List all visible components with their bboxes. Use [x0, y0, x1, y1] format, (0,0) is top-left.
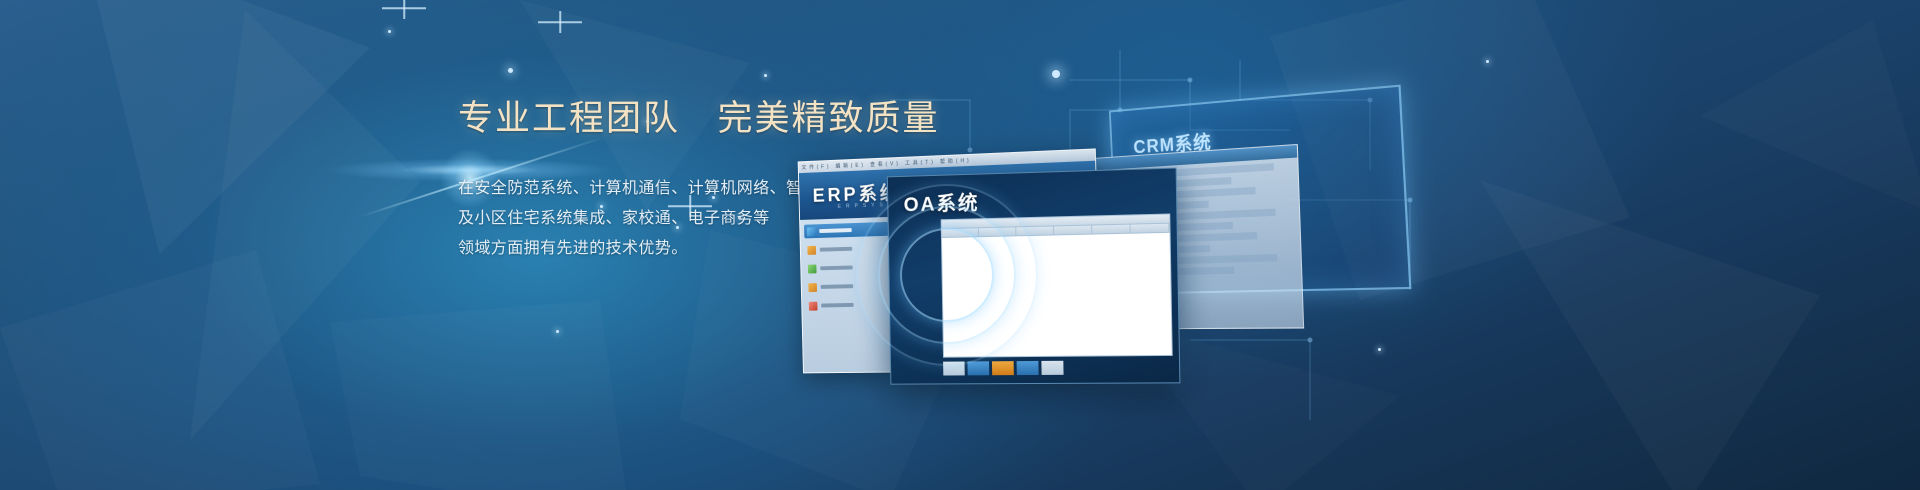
bokeh-dot — [388, 30, 391, 33]
oa-grid-body — [942, 233, 1172, 357]
bokeh-dot — [556, 330, 559, 333]
erp-nav-label — [821, 303, 854, 308]
erp-nav-item[interactable] — [804, 241, 889, 257]
oa-grid-column — [1016, 226, 1054, 235]
oa-data-grid[interactable] — [941, 213, 1173, 357]
software-screens-group: CRM系统 CUSTOMER SYSTEM 文件(F) 编辑(E) 查看(V) … — [770, 40, 1450, 460]
headline-part-1: 专业工程团队 — [458, 99, 680, 138]
erp-nav-item[interactable] — [805, 278, 890, 294]
erp-nav-item[interactable] — [804, 222, 889, 238]
oa-status-chip[interactable] — [1041, 361, 1063, 375]
oa-status-chip[interactable] — [967, 361, 989, 375]
bokeh-dot — [1486, 60, 1489, 63]
erp-window-subtitle: E R P S Y S — [838, 202, 885, 210]
bokeh-dot — [764, 74, 767, 77]
erp-sidebar — [800, 217, 896, 373]
oa-grid-column — [979, 227, 1017, 236]
decorative-polygon — [41, 0, 380, 279]
decorative-polygon — [0, 250, 320, 490]
decorative-polygon — [1700, 20, 1920, 260]
oa-status-chip[interactable] — [1017, 361, 1039, 375]
oa-status-chip[interactable] — [992, 361, 1014, 375]
oa-grid-column — [1131, 224, 1170, 233]
erp-nav-item[interactable] — [806, 297, 891, 312]
folder-icon — [808, 283, 817, 292]
erp-nav-label — [819, 228, 852, 233]
erp-nav-label — [820, 247, 853, 252]
decorative-polygon — [170, 10, 420, 440]
hero-banner: 专业工程团队 完美精致质量 在安全防范系统、计算机通信、计算机网络、智能大厦 及… — [0, 0, 1920, 490]
folder-icon — [807, 245, 816, 254]
oa-grid-column — [942, 228, 979, 237]
bokeh-dot — [508, 68, 513, 73]
folder-icon — [809, 301, 818, 310]
oa-window-title: OA系统 — [903, 186, 979, 217]
oa-status-chip[interactable] — [943, 362, 965, 376]
decorative-polygon — [330, 300, 630, 490]
erp-nav-label — [820, 265, 853, 270]
oa-statusbar — [943, 360, 1173, 376]
oa-window[interactable]: OA系统 — [887, 168, 1181, 385]
oa-grid-column — [1054, 226, 1092, 235]
folder-icon — [807, 227, 816, 236]
decorative-polygon — [1480, 180, 1820, 490]
folder-icon — [808, 264, 817, 273]
oa-grid-column — [1092, 225, 1131, 234]
erp-nav-item[interactable] — [805, 260, 890, 276]
erp-nav-label — [821, 284, 854, 289]
